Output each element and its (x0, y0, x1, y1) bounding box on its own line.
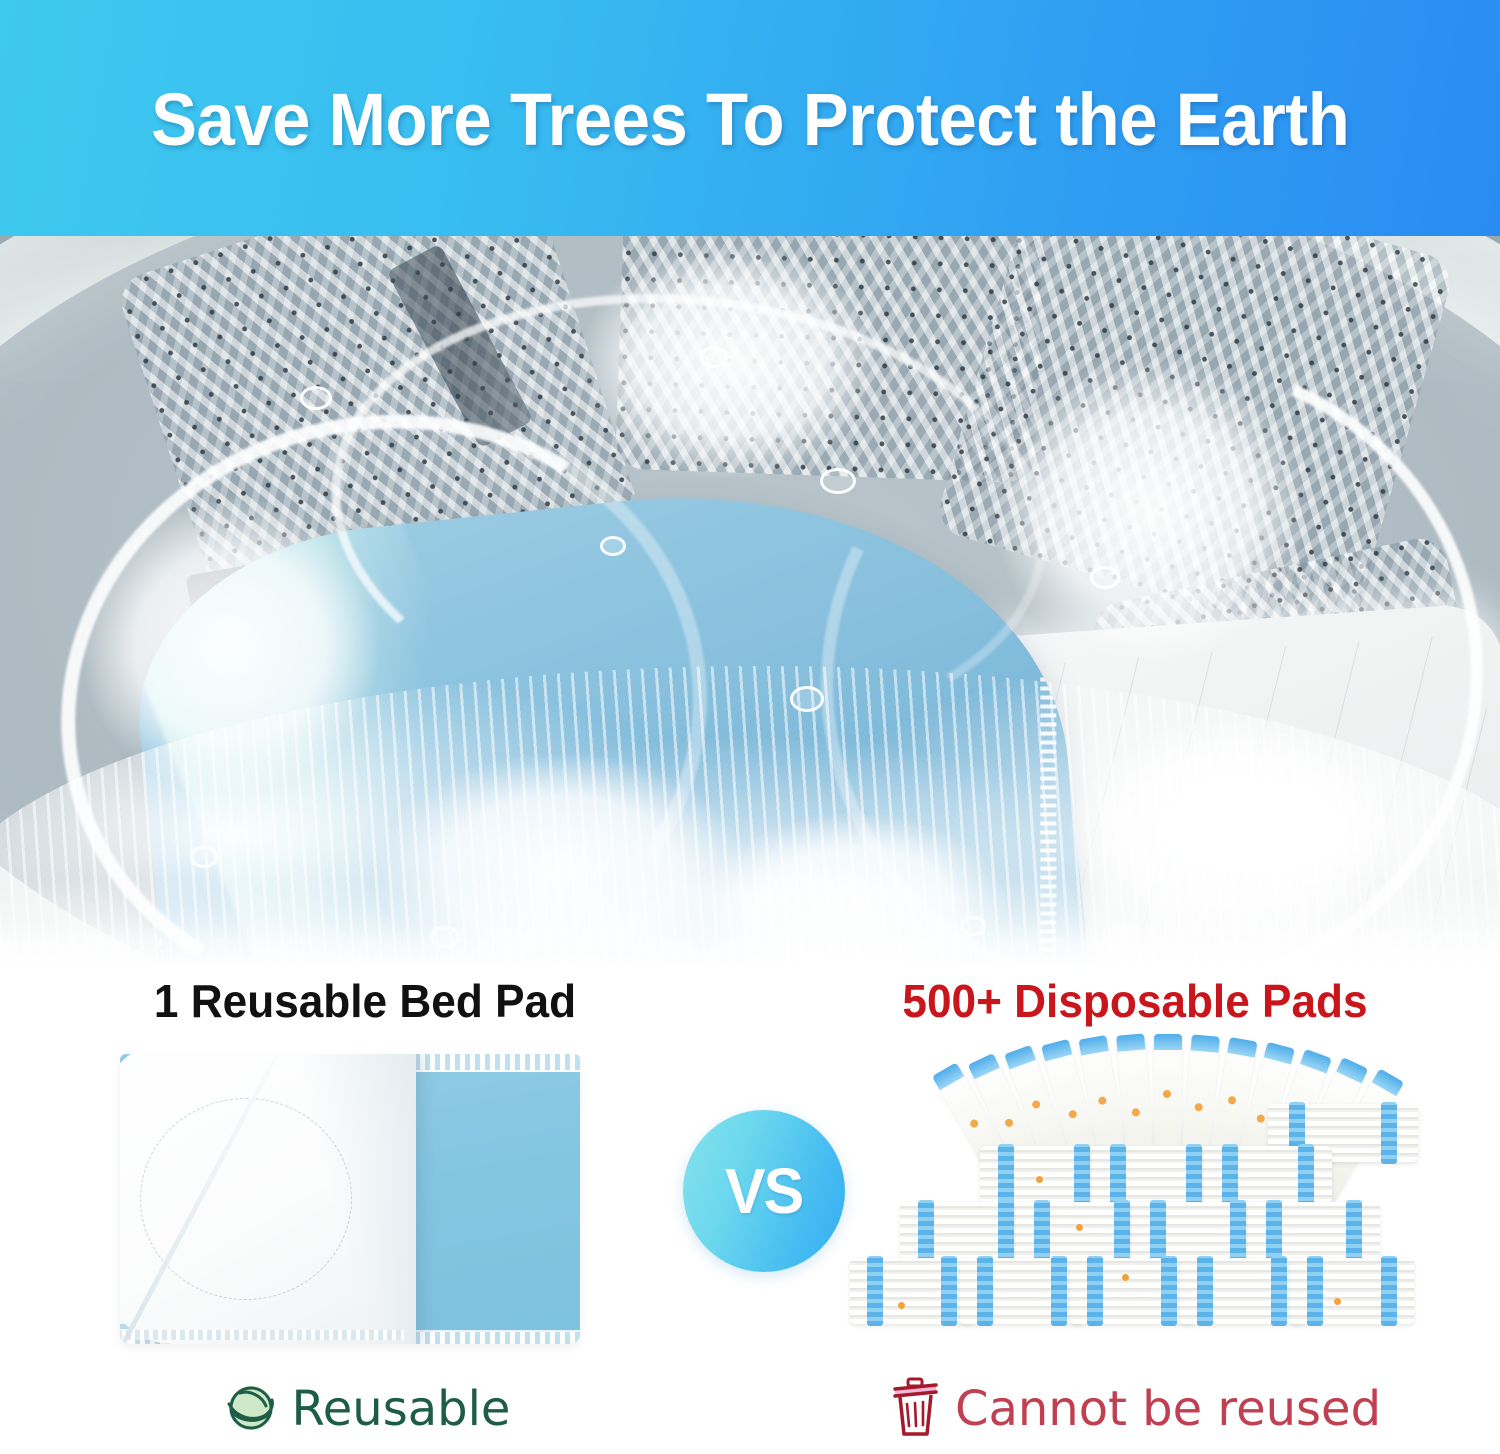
product-infographic: Save More Trees To Protect the Earth (0, 0, 1500, 1454)
disposable-pad-bundle (1290, 1258, 1414, 1324)
trash-bin-icon (889, 1376, 945, 1443)
disposable-pad-bundle (960, 1258, 1084, 1324)
disposable-pad-bundle (850, 1258, 974, 1324)
header-banner: Save More Trees To Protect the Earth (0, 0, 1500, 236)
comparison-column-disposable: 500+ Disposable Pads (790, 968, 1480, 1454)
disposable-pad-stack (838, 1042, 1438, 1354)
versus-badge: VS (683, 1110, 845, 1272)
washing-machine-photo (0, 236, 1500, 968)
page-title: Save More Trees To Protect the Earth (151, 83, 1349, 157)
pad-quilt-stitch (140, 1098, 352, 1300)
disposable-pad-bundle (900, 1202, 1032, 1260)
photo-bottom-fade (0, 878, 1500, 968)
bed-pad-illustration (120, 1054, 580, 1344)
recycle-globe-icon (220, 1378, 282, 1441)
reusable-product-image (20, 1042, 710, 1352)
pad-folded-corner (120, 1054, 416, 1344)
disposable-pad-bundle (1016, 1202, 1148, 1260)
water-splash (930, 296, 1370, 726)
water-droplet (300, 386, 332, 410)
versus-label: VS (725, 1159, 802, 1223)
water-droplet (1240, 836, 1272, 860)
water-droplet (190, 846, 218, 868)
disposable-pad-bundle (1248, 1202, 1380, 1260)
water-droplet (600, 536, 626, 556)
disposable-pad-bundle (1204, 1146, 1332, 1204)
disposable-pad-bundle (1092, 1146, 1220, 1204)
water-droplet (1090, 566, 1120, 589)
disposable-footer: Cannot be reused (790, 1374, 1480, 1444)
reusable-heading: 1 Reusable Bed Pad (34, 976, 696, 1027)
disposable-heading: 500+ Disposable Pads (804, 976, 1466, 1027)
reusable-footer-label: Reusable (292, 1385, 511, 1433)
disposable-pad-bundle (1132, 1202, 1264, 1260)
disposable-footer-label: Cannot be reused (955, 1385, 1381, 1433)
comparison-column-reusable: 1 Reusable Bed Pad (20, 968, 710, 1454)
disposable-pad-bundle (1180, 1258, 1304, 1324)
reusable-footer: Reusable (20, 1374, 710, 1444)
disposable-pad-bundle (980, 1146, 1108, 1204)
water-droplet (790, 686, 824, 712)
disposable-product-image (790, 1042, 1480, 1352)
water-droplet (820, 468, 856, 494)
disposable-pad-bundle (1070, 1258, 1194, 1324)
pad-fold-edge (120, 1330, 404, 1340)
water-droplet (700, 346, 728, 368)
